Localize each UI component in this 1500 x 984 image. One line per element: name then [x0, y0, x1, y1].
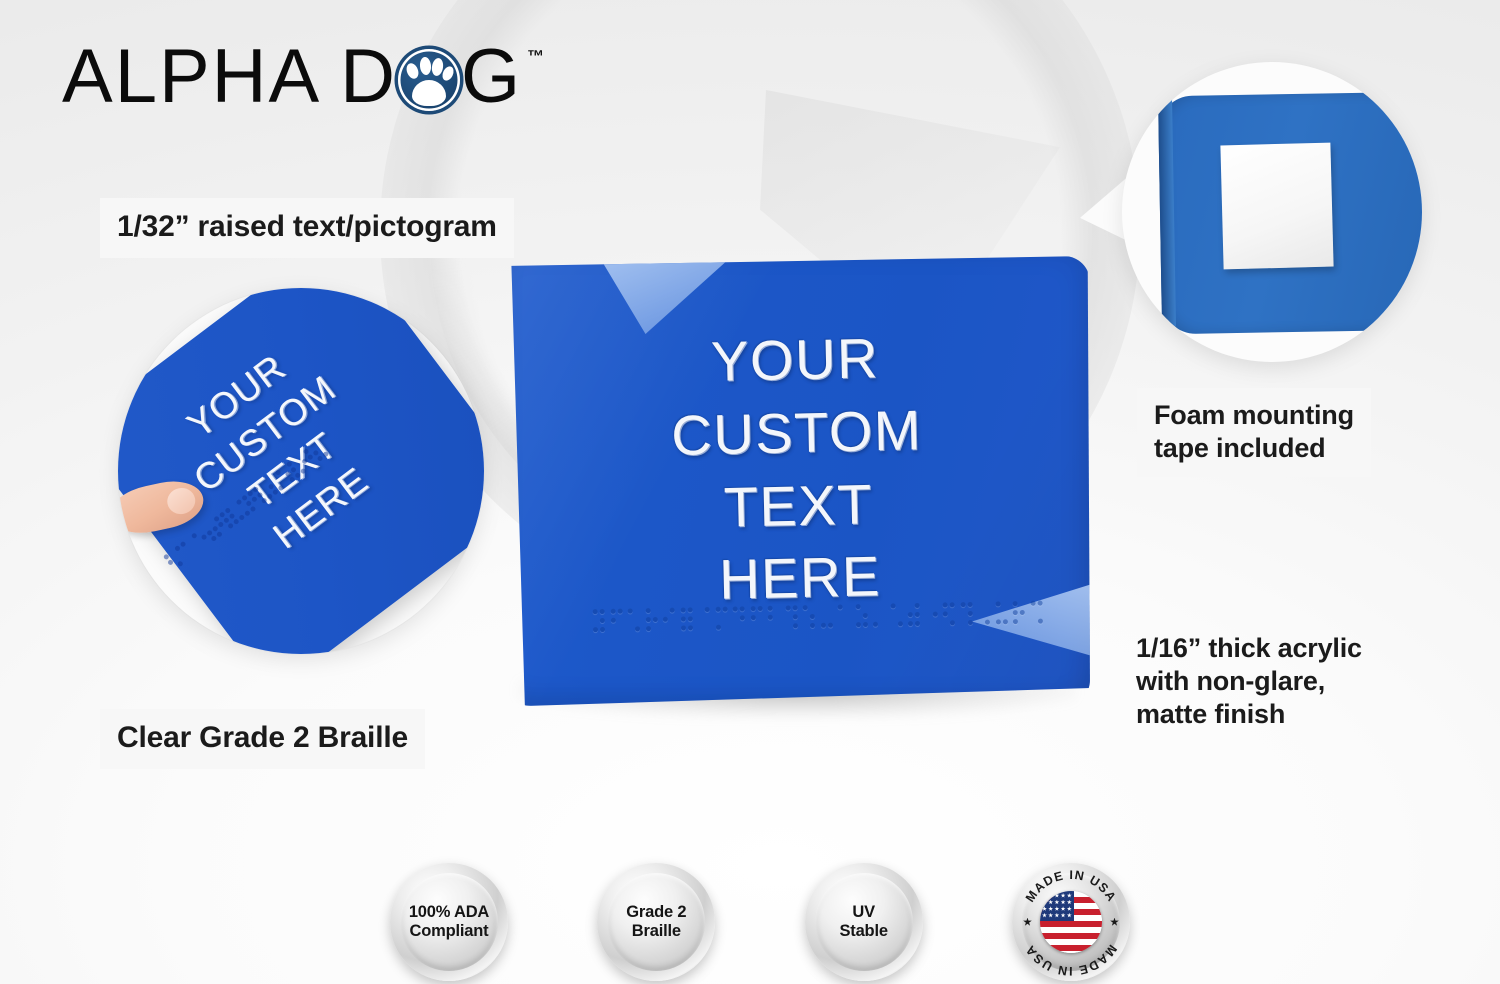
braille-dot — [266, 493, 273, 500]
braille-dot — [289, 476, 296, 483]
braille-dot — [960, 602, 965, 607]
braille-dot — [995, 601, 1000, 606]
paw-pad — [412, 80, 446, 106]
braille-dot — [180, 541, 187, 548]
braille-dot — [827, 623, 832, 628]
braille-dot — [680, 625, 685, 630]
braille-dot — [995, 619, 1000, 624]
braille-dot — [277, 484, 284, 491]
callout-acrylic-line3: matte finish — [1136, 698, 1362, 731]
usa-top-label: MADE IN USA — [1023, 868, 1119, 905]
braille-dot — [785, 605, 790, 610]
braille-dot — [1037, 619, 1042, 624]
braille-dot — [985, 620, 990, 625]
braille-dot — [967, 602, 972, 607]
callout-raised-text: 1/32” raised text/pictogram — [100, 198, 514, 258]
braille-dot — [950, 620, 955, 625]
braille-dot — [750, 606, 755, 611]
braille-dot — [855, 622, 860, 627]
braille-dot — [1037, 601, 1042, 606]
braille-dot — [687, 625, 692, 630]
braille-dot — [967, 611, 972, 616]
sign-text-line2: CUSTOM — [503, 390, 1090, 476]
badge-braille-label: Grade 2 Braille — [618, 903, 694, 941]
braille-dot — [600, 627, 605, 632]
braille-dot — [645, 617, 650, 622]
braille-dot — [943, 602, 948, 607]
braille-dot — [862, 622, 867, 627]
braille-dot — [890, 603, 895, 608]
braille-dot — [687, 616, 692, 621]
braille-dot — [227, 522, 234, 529]
badge-ada-compliant: 100% ADA Compliant — [390, 863, 508, 981]
braille-dot — [680, 616, 685, 621]
braille-dot — [593, 609, 598, 614]
callout-acrylic-line2: with non-glare, — [1136, 665, 1362, 698]
braille-dot — [1013, 610, 1018, 615]
badge-braille-line1: Grade 2 — [626, 903, 686, 922]
braille-dot — [792, 614, 797, 619]
trademark-symbol: ™ — [527, 47, 545, 67]
braille-dot — [201, 534, 208, 541]
fingernail — [165, 485, 198, 516]
braille-dot — [216, 531, 223, 538]
sign-text-line3: TEXT — [505, 463, 1092, 549]
braille-dot — [932, 612, 937, 617]
braille-dot — [244, 510, 251, 517]
badge-uv-line2: Stable — [839, 922, 887, 941]
braille-dot — [233, 518, 240, 525]
braille-dot — [768, 615, 773, 620]
callout-acrylic-thickness: 1/16” thick acrylic with non-glare, matt… — [1126, 621, 1379, 743]
braille-dot — [1002, 619, 1007, 624]
braille-dot — [191, 532, 198, 539]
braille-dot — [750, 615, 755, 620]
braille-dot — [768, 606, 773, 611]
braille-dot — [838, 604, 843, 609]
braille-dot — [177, 560, 184, 567]
braille-dot — [652, 617, 657, 622]
braille-dot — [301, 458, 308, 465]
braille-dot — [317, 455, 324, 462]
sign-raised-text: YOUR CUSTOM TEXT HERE — [502, 317, 1093, 621]
braille-dot — [792, 605, 797, 610]
usa-bottom-label: MADE IN USA — [1022, 942, 1119, 978]
braille-dot — [628, 608, 633, 613]
braille-dot — [680, 607, 685, 612]
braille-dot — [687, 607, 692, 612]
braille-dot — [908, 621, 913, 626]
braille-dot — [862, 613, 867, 618]
braille-dot — [600, 618, 605, 623]
braille-dot — [645, 608, 650, 613]
braille-dot — [792, 623, 797, 628]
feature-badge-row: 100% ADA Compliant Grade 2 Braille UV St… — [390, 862, 1130, 982]
badge-uv-label: UV Stable — [831, 903, 895, 941]
braille-dot — [967, 620, 972, 625]
braille-dot — [322, 451, 329, 458]
braille-dot — [1013, 601, 1018, 606]
inset-foam-tape-closeup — [1122, 62, 1422, 362]
callout-clear-grade-2-braille: Clear Grade 2 Braille — [100, 709, 425, 769]
badge-ada-label: 100% ADA Compliant — [401, 903, 497, 941]
product-image-canvas: ALPHA D G ™ 1/32” raised text/pictogram … — [0, 0, 1500, 984]
paw-print-icon — [398, 49, 460, 111]
brand-logo: ALPHA D G ™ — [62, 41, 545, 113]
usa-text-top: MADE IN USA — [1023, 868, 1119, 905]
braille-dot — [803, 605, 808, 610]
braille-dot — [810, 614, 815, 619]
braille-dot — [1013, 619, 1018, 624]
braille-dot — [217, 521, 224, 528]
braille-dot — [645, 626, 650, 631]
braille-dot — [210, 535, 217, 542]
braille-dot — [593, 627, 598, 632]
paw-toe — [404, 62, 420, 81]
braille-dot — [275, 469, 282, 476]
braille-dot — [307, 454, 314, 461]
braille-dot — [897, 621, 902, 626]
foam-mounting-tape-square — [1220, 143, 1333, 270]
braille-dot — [174, 545, 181, 552]
braille-dot — [915, 603, 920, 608]
braille-dot — [249, 506, 256, 513]
braille-dot — [820, 623, 825, 628]
braille-dot — [855, 604, 860, 609]
brand-name-first: ALPHA D — [62, 41, 397, 113]
braille-dot — [908, 612, 913, 617]
main-product-sign: YOUR CUSTOM TEXT HERE — [495, 252, 1095, 722]
braille-dot — [610, 618, 615, 623]
sign-panel: YOUR CUSTOM TEXT HERE — [505, 256, 1090, 706]
braille-dot — [715, 625, 720, 630]
braille-dot — [294, 472, 301, 479]
braille-dot — [272, 489, 279, 496]
braille-dot — [1030, 601, 1035, 606]
callout-foam-mounting-tape: Foam mounting tape included — [1137, 388, 1371, 477]
braille-dot — [251, 496, 258, 503]
callout-foam-line2: tape included — [1154, 432, 1354, 465]
braille-dot — [740, 615, 745, 620]
braille-dot — [1020, 610, 1025, 615]
braille-dot — [722, 607, 727, 612]
callout-acrylic-line1: 1/16” thick acrylic — [1136, 632, 1362, 665]
badge-made-in-usa: MADE IN USA MADE IN USA — [1012, 863, 1130, 981]
braille-dot — [810, 623, 815, 628]
badge-ada-line2: Compliant — [409, 922, 489, 941]
braille-dot — [740, 606, 745, 611]
brand-name-last: G — [461, 41, 522, 113]
braille-dot — [261, 497, 268, 504]
braille-dot — [238, 514, 245, 521]
badge-grade-2-braille: Grade 2 Braille — [597, 863, 715, 981]
sign-text-line1: YOUR — [502, 317, 1089, 403]
braille-dot — [617, 609, 622, 614]
inset-braille-closeup: YOUR CUSTOM TEXT HERE — [118, 288, 484, 654]
braille-dot — [943, 611, 948, 616]
sign-braille-row — [593, 597, 1031, 657]
callout-foam-line1: Foam mounting — [1154, 399, 1354, 432]
braille-dot — [300, 468, 307, 475]
braille-dot — [915, 612, 920, 617]
paw-toe — [419, 57, 432, 76]
braille-dot — [705, 607, 710, 612]
braille-dot — [600, 609, 605, 614]
badge-ada-line1: 100% ADA — [409, 903, 489, 922]
braille-dot — [873, 622, 878, 627]
braille-dot — [915, 621, 920, 626]
badge-uv-line1: UV — [839, 903, 887, 922]
braille-dot — [715, 607, 720, 612]
braille-dot — [663, 617, 668, 622]
badge-braille-line2: Braille — [626, 922, 686, 941]
braille-dot — [635, 626, 640, 631]
braille-dot — [733, 606, 738, 611]
badge-uv-stable: UV Stable — [805, 863, 923, 981]
usa-text-bottom: MADE IN USA — [1022, 942, 1119, 978]
braille-dot — [670, 608, 675, 613]
braille-dot — [757, 606, 762, 611]
braille-dot — [950, 602, 955, 607]
braille-dot — [610, 609, 615, 614]
braille-dot — [235, 499, 242, 506]
